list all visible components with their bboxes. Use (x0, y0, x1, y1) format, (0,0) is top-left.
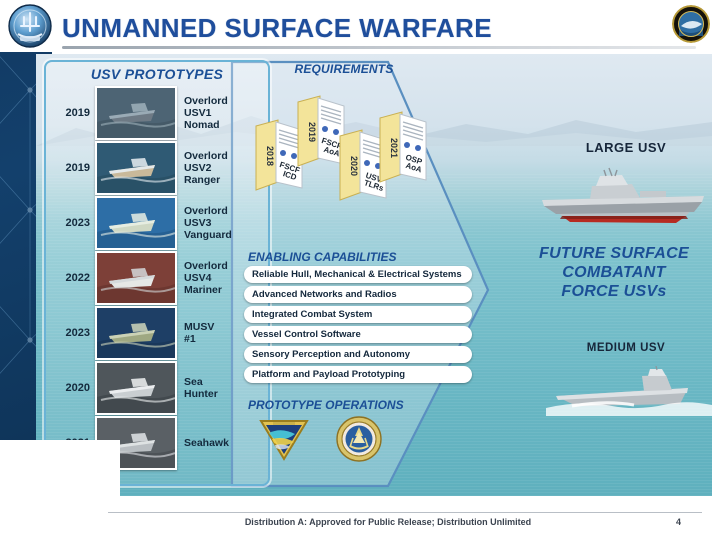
title-divider (62, 46, 696, 49)
footer-divider (108, 512, 702, 513)
usv-prototype-year: 2019 (46, 107, 95, 119)
prototype-operations-heading: PROTOTYPE OPERATIONS (248, 398, 404, 412)
requirement-document-seal-icon (415, 145, 421, 151)
usv-prototypes-heading: USV PROTOTYPES (46, 66, 268, 82)
requirement-folder[interactable]: 2020USVTLRs (340, 130, 386, 200)
us-navy-command-circular-seal-emblem (336, 416, 382, 462)
usv-photo-vanguard (97, 198, 175, 248)
requirement-folder-year: 2021 (389, 138, 399, 158)
navy-trident-seal-icon (8, 4, 52, 48)
usv-prototype-thumbnail[interactable] (95, 361, 177, 415)
usv-photo-sea-hunter (97, 363, 175, 413)
medium-usv-label: MEDIUM USV (556, 342, 696, 354)
surface-development-squadron-one-triangle-emblem (258, 417, 310, 461)
slide-body: USV PROTOTYPES 2019OverlordUSV1Nomad2019… (36, 54, 712, 496)
future-force-title-line: FORCE USVs (516, 282, 712, 301)
enabling-capability-pill[interactable]: Vessel Control Software (244, 326, 472, 343)
usv-prototype-year: 2022 (46, 272, 95, 284)
slide-header: UNMANNED SURFACE WARFARE (0, 0, 720, 52)
requirements-folder-stack: 2018FSCFICD2019FSCFAoA2020USVTLRs2021OSP… (252, 78, 432, 228)
usv-photo-mariner (97, 253, 175, 303)
large-usv-label: LARGE USV (556, 140, 696, 155)
usv-prototype-name: Seahawk (177, 437, 268, 449)
future-force-title: FUTURE SURFACECOMBATANTFORCE USVs (516, 244, 712, 301)
usv-prototype-year: 2019 (46, 162, 95, 174)
usv-prototype-row[interactable]: 2022OverlordUSV4Mariner (46, 251, 268, 305)
usv-prototype-thumbnail[interactable] (95, 196, 177, 250)
future-force-title-line: COMBATANT (516, 263, 712, 282)
usv-prototype-year: 2023 (46, 217, 95, 229)
page-title: UNMANNED SURFACE WARFARE (62, 13, 492, 44)
usv-prototype-name-line: Vanguard (184, 229, 268, 241)
usv-prototype-row[interactable]: 2023MUSV#1 (46, 306, 268, 360)
usv-prototype-row[interactable]: 2019OverlordUSV1Nomad (46, 86, 268, 140)
edge-strip-mask (0, 440, 120, 539)
usv-prototype-year: 2020 (46, 382, 95, 394)
enabling-capability-pill[interactable]: Reliable Hull, Mechanical & Electrical S… (244, 266, 472, 283)
enabling-capability-pill[interactable]: Advanced Networks and Radios (244, 286, 472, 303)
usv-prototypes-panel: USV PROTOTYPES 2019OverlordUSV1Nomad2019… (44, 60, 270, 486)
enabling-capability-pill[interactable]: Platform and Payload Prototyping (244, 366, 472, 383)
usv-photo-musv1 (97, 308, 175, 358)
requirement-document-seal-icon (322, 126, 328, 132)
usv-photo-nomad (97, 88, 175, 138)
requirements-heading: REQUIREMENTS (264, 62, 424, 76)
usv-prototype-row[interactable]: 2023OverlordUSV3Vanguard (46, 196, 268, 250)
usv-prototype-name-line: Seahawk (184, 437, 268, 449)
requirement-folder[interactable]: 2018FSCFICD (256, 120, 302, 190)
distribution-statement: Distribution A: Approved for Public Rele… (108, 517, 668, 527)
future-force-title-line: FUTURE SURFACE (516, 244, 712, 263)
requirement-folder[interactable]: 2021OSPAoA (380, 112, 426, 182)
enabling-capabilities-list: Reliable Hull, Mechanical & Electrical S… (244, 266, 472, 386)
requirement-folder[interactable]: 2019FSCFAoA (298, 96, 344, 166)
usv-photo-ranger (97, 143, 175, 193)
requirement-document-seal-icon (291, 153, 297, 159)
usv-prototype-thumbnail[interactable] (95, 251, 177, 305)
usv-prototype-thumbnail[interactable] (95, 306, 177, 360)
usv-prototype-row[interactable]: 2020SeaHunter (46, 361, 268, 415)
usv-prototype-thumbnail[interactable] (95, 86, 177, 140)
program-office-seal-icon (672, 5, 710, 43)
requirement-folder-year: 2019 (307, 122, 317, 142)
medium-usv-render (546, 366, 712, 420)
prototype-operations-logos (258, 416, 382, 462)
usv-prototypes-list: 2019OverlordUSV1Nomad2019OverlordUSV2Ran… (46, 86, 268, 471)
enabling-capability-pill[interactable]: Sensory Perception and Autonomy (244, 346, 472, 363)
requirement-document-seal-icon (280, 150, 286, 156)
usv-prototype-year: 2023 (46, 327, 95, 339)
requirement-folder-year: 2018 (265, 146, 275, 166)
enabling-capabilities-heading: ENABLING CAPABILITIES (248, 250, 396, 264)
requirement-document-seal-icon (364, 160, 370, 166)
requirement-folder-year: 2020 (349, 156, 359, 176)
slide-root: UNMANNED SURFACE WARFARE USV PROTOTYPES … (0, 0, 720, 539)
requirement-document-seal-icon (404, 142, 410, 148)
large-usv-render (536, 166, 712, 228)
requirement-document-seal-icon (333, 129, 339, 135)
usv-prototype-row[interactable]: 2019OverlordUSV2Ranger (46, 141, 268, 195)
page-number: 4 (676, 517, 681, 527)
enabling-capability-pill[interactable]: Integrated Combat System (244, 306, 472, 323)
usv-prototype-thumbnail[interactable] (95, 141, 177, 195)
